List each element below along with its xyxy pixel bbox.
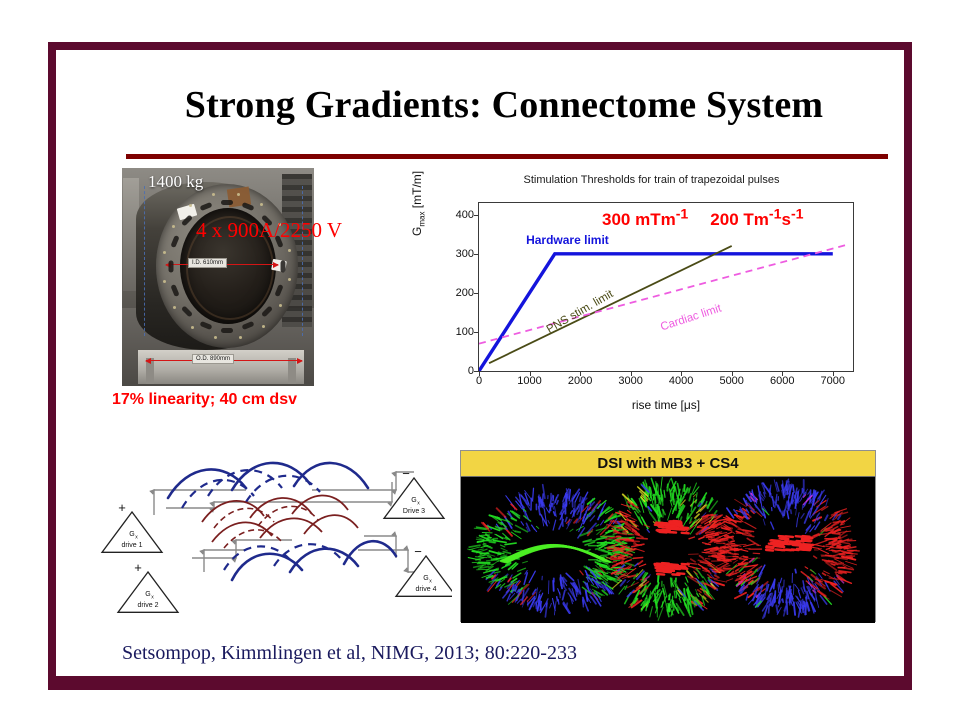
fiber-streamline: [539, 590, 541, 593]
fiber-streamline: [597, 538, 607, 540]
fiber-streamline: [635, 548, 645, 551]
slew-rate-annotation: 200 Tm-1s-1: [710, 210, 803, 229]
fiber-streamline: [625, 530, 628, 531]
coil-slot: [281, 260, 286, 272]
fiber-streamline: [671, 578, 672, 586]
fiber-streamline: [517, 599, 521, 603]
y-tick-mark: [474, 254, 479, 255]
fiber-streamline: [806, 545, 813, 546]
fiber-streamline: [577, 511, 578, 514]
fiber-streamline: [512, 518, 517, 520]
fiber-streamline: [763, 519, 765, 525]
fiber-streamline: [672, 596, 673, 607]
y-tick-label: 0: [468, 365, 474, 377]
page-title: Strong Gradients: Connectome System: [112, 86, 896, 126]
fiber-streamline: [804, 548, 811, 549]
fiber-streamline: [650, 513, 656, 521]
fiber-streamline: [696, 493, 697, 498]
fiber-streamline: [662, 525, 669, 526]
x-tick-label: 0: [476, 375, 482, 387]
fiber-streamline: [815, 522, 820, 529]
fiber-streamline: [805, 538, 812, 539]
fiber-streamline: [825, 515, 828, 520]
fiber-streamline: [478, 549, 483, 550]
fiber-streamline: [813, 548, 819, 549]
fiber-streamline: [657, 571, 664, 572]
fiber-streamline: [680, 529, 687, 530]
fiber-streamline: [784, 510, 785, 515]
fiber-streamline: [781, 538, 788, 539]
fiber-streamline: [563, 591, 565, 600]
fiber-streamline: [554, 512, 555, 516]
fiber-streamline: [539, 507, 540, 515]
fiber-streamline: [553, 520, 556, 530]
fiber-streamline: [795, 570, 796, 573]
fiber-streamline: [586, 591, 588, 601]
circuit-svg: Gxdrive 1+Gxdrive 2+GxDrive 3−Gxdrive 4−: [96, 430, 452, 620]
x-tick-label: 5000: [719, 375, 743, 387]
fiber-streamline: [642, 517, 648, 528]
fiber-streamline: [670, 529, 677, 530]
fiber-streamline: [580, 571, 583, 575]
y-axis-label-sub: max: [417, 212, 426, 227]
fiber-streamline: [596, 525, 599, 527]
fiber-streamline: [778, 550, 785, 551]
fiber-streamline: [791, 510, 792, 513]
fiber-streamline: [682, 564, 689, 565]
fiber-streamline: [767, 546, 774, 547]
fiber-streamline: [659, 507, 660, 518]
fiber-streamline: [700, 556, 703, 558]
fiber-streamline: [476, 557, 487, 558]
fiber-streamline: [555, 497, 556, 502]
title-divider: [126, 154, 888, 159]
fiber-streamline: [557, 501, 558, 504]
chart-series-hardware-limit: [479, 254, 833, 371]
fiber-streamline: [705, 558, 710, 559]
fiber-streamline: [797, 518, 798, 527]
fiber-streamline: [840, 542, 849, 544]
fiber-streamline: [814, 556, 817, 558]
photo-dimension-guide-left: [144, 186, 145, 336]
fiber-streamline: [656, 568, 663, 569]
fiber-streamline: [494, 572, 500, 573]
fiber-streamline: [760, 492, 761, 496]
fiber-streamline: [731, 541, 734, 542]
fiber-streamline: [697, 594, 699, 597]
fiber-streamline: [727, 579, 733, 581]
fiber-streamline: [638, 561, 642, 564]
fiber-streamline: [695, 514, 699, 518]
y-tick-mark: [474, 215, 479, 216]
fiber-streamline: [557, 597, 558, 601]
fiber-streamline: [675, 585, 676, 593]
fiber-streamline: [660, 532, 667, 533]
fiber-streamline: [817, 513, 819, 516]
chart-title: Stimulation Thresholds for train of trap…: [424, 174, 879, 186]
fiber-streamline: [738, 544, 747, 545]
coil-loop-red-upper-3: [292, 495, 348, 514]
chart-x-axis-label: rise time [μs]: [478, 398, 854, 412]
coil-loop-red-lower-1: [212, 522, 272, 542]
y-tick-label: 100: [456, 326, 474, 338]
fiber-streamline: [570, 529, 573, 531]
fiber-streamline: [769, 490, 770, 496]
fiber-streamline: [674, 499, 675, 502]
y-tick-mark: [474, 332, 479, 333]
fiber-streamline: [662, 563, 669, 564]
fiber-streamline: [787, 511, 789, 519]
fiber-streamline: [501, 545, 505, 547]
coil-slot: [221, 328, 233, 333]
chart-series-pns-stim-limit: [489, 246, 732, 363]
fiber-streamline: [714, 580, 727, 583]
fiber-streamline: [782, 544, 789, 545]
fiber-streamline: [647, 583, 650, 587]
fiber-streamline: [523, 561, 528, 563]
amplifier-label-symbol-3: G: [411, 497, 416, 504]
fiber-streamline: [673, 521, 680, 522]
fiber-streamline: [550, 603, 552, 608]
y-axis-label-units: [mT/m]: [410, 171, 424, 212]
y-axis-label-main: G: [410, 227, 424, 236]
fiber-streamline: [771, 543, 778, 544]
fiber-streamline: [619, 586, 625, 594]
fiber-streamline: [689, 537, 694, 539]
y-tick-mark: [474, 293, 479, 294]
fiber-streamline: [846, 556, 852, 557]
slew-rate-exponent-1: -1: [769, 206, 782, 222]
x-tick-label: 7000: [821, 375, 845, 387]
fiber-streamline: [515, 531, 520, 532]
fiber-streamline: [558, 600, 559, 605]
amplifier-polarity-3: −: [402, 466, 410, 481]
gradient-strength-exponent: -1: [676, 206, 689, 222]
amplifier-rating-caption: 4 x 900A/2250 V: [196, 218, 342, 243]
fiber-streamline: [533, 488, 534, 500]
fiber-streamline: [837, 545, 840, 546]
fiber-streamline: [673, 601, 674, 610]
fiber-streamline: [780, 542, 787, 543]
slew-rate-unit-s: s: [781, 210, 790, 229]
fiber-streamline: [780, 578, 782, 583]
fiber-streamline: [841, 526, 851, 528]
fiber-streamline: [518, 568, 526, 571]
gradient-strength-annotation: 300 mTm-1: [602, 210, 688, 229]
slide-root: Strong Gradients: Connectome System: [0, 0, 960, 720]
fiber-streamline: [669, 594, 670, 600]
fiber-streamline: [829, 578, 838, 580]
coil-bolt: [173, 306, 176, 309]
fiber-streamline: [562, 513, 563, 526]
fiber-streamline: [832, 550, 835, 551]
fiber-streamline: [656, 523, 663, 524]
photo-image: I.D. 610mm O.D. 890mm 1400 kg: [122, 168, 314, 386]
coil-bolt: [163, 280, 166, 283]
fiber-streamline: [819, 574, 823, 579]
fiber-streamline: [553, 581, 554, 591]
fiber-streamline: [801, 514, 804, 519]
fiber-streamline: [733, 560, 737, 563]
fiber-streamline: [637, 538, 647, 539]
fiber-streamline: [777, 505, 783, 516]
fiber-streamline: [684, 485, 685, 491]
fiber-streamline: [501, 548, 507, 551]
fiber-streamline: [831, 548, 841, 549]
fiber-streamline: [669, 567, 676, 568]
fiber-streamline: [497, 508, 506, 517]
fiber-streamline: [801, 588, 804, 594]
x-tick-label: 1000: [517, 375, 541, 387]
brain-view-coronal: [716, 479, 860, 618]
fiber-streamline: [604, 560, 610, 562]
fiber-streamline: [688, 600, 689, 610]
fiber-streamline: [675, 523, 682, 524]
fiber-streamline: [835, 550, 840, 551]
fiber-streamline: [601, 520, 604, 525]
coil-loop-blue-lower-1: [232, 554, 302, 580]
fiber-streamline: [651, 479, 656, 492]
coil-bolt: [191, 326, 194, 329]
fiber-streamline: [662, 602, 663, 607]
fiber-streamline: [583, 600, 584, 604]
coil-loop-red-lower-3: [304, 515, 358, 534]
amplifier-polarity-2: +: [134, 560, 142, 575]
title-block: Strong Gradients: Connectome System: [112, 86, 896, 126]
fiber-streamline: [663, 588, 665, 594]
fiber-streamline: [500, 587, 502, 590]
x-tick-label: 6000: [770, 375, 794, 387]
y-tick-label: 400: [456, 209, 474, 221]
fiber-streamline: [698, 590, 701, 593]
fiber-streamline: [488, 557, 492, 558]
fiber-streamline: [687, 514, 688, 519]
fiber-streamline: [771, 522, 774, 529]
amplifier-label-name-1: drive 1: [121, 542, 142, 549]
fiber-streamline: [675, 487, 677, 496]
fiber-streamline: [823, 573, 826, 575]
fiber-streamline: [698, 526, 701, 527]
fiber-streamline: [778, 585, 779, 593]
fiber-streamline: [844, 558, 849, 559]
series-label-hardware-limit: Hardware limit: [526, 233, 609, 247]
fiber-streamline: [766, 550, 773, 551]
fiber-streamline: [503, 590, 509, 598]
fiber-streamline: [533, 603, 535, 607]
fiber-streamline: [824, 571, 830, 574]
fiber-streamline: [578, 528, 585, 538]
fiber-streamline: [469, 545, 480, 547]
fiber-streamline: [786, 536, 793, 537]
fiber-streamline: [507, 594, 510, 601]
fiber-streamline: [808, 492, 810, 495]
fiber-streamline: [797, 549, 804, 550]
fiber-streamline: [769, 604, 770, 613]
amplifier-polarity-4: −: [414, 544, 422, 559]
fiber-streamline: [532, 525, 535, 530]
fiber-streamline: [529, 571, 535, 582]
fiber-streamline: [583, 502, 585, 510]
inner-diameter-label: I.D. 610mm: [188, 258, 227, 268]
fiber-streamline: [691, 559, 695, 562]
fiber-streamline: [505, 543, 516, 545]
fiber-streamline: [685, 583, 687, 586]
amplifier-label-symbol-4: G: [423, 575, 428, 582]
fiber-streamline: [601, 555, 608, 556]
fiber-streamline: [655, 594, 657, 608]
fiber-streamline: [628, 590, 634, 596]
fiber-streamline: [826, 499, 828, 507]
fiber-streamline: [785, 491, 786, 498]
fiber-streamline: [805, 567, 808, 569]
fiber-streamline: [847, 550, 859, 551]
fiber-streamline: [627, 510, 631, 513]
fiber-streamline: [826, 548, 829, 549]
stimulation-threshold-chart: Stimulation Thresholds for train of trap…: [424, 174, 879, 422]
circuit-wire-4: [308, 482, 392, 502]
amplifier-label-symbol-2: G: [145, 591, 150, 598]
coil-loop-blue-lower-dashed-2: [274, 544, 342, 566]
fiber-streamline: [717, 556, 724, 557]
fiber-streamline: [625, 563, 634, 566]
fiber-streamline: [832, 533, 839, 534]
fiber-streamline: [608, 548, 619, 549]
photo-stand-leg-right: [288, 358, 296, 384]
dsi-svg: [461, 477, 875, 623]
fiber-streamline: [655, 525, 662, 526]
fiber-streamline: [622, 550, 626, 551]
fiber-streamline: [625, 560, 631, 562]
fiber-streamline: [835, 509, 847, 513]
fiber-streamline: [801, 572, 809, 578]
gradient-coil-photo: I.D. 610mm O.D. 890mm 1400 kg: [122, 168, 314, 386]
coil-loop-red-lower-dashed-1: [224, 530, 282, 548]
fiber-streamline: [591, 585, 597, 588]
fiber-streamline: [788, 497, 789, 510]
linearity-caption: 17% linearity; 40 cm dsv: [112, 391, 332, 409]
fiber-streamline: [640, 514, 642, 517]
fiber-streamline: [625, 586, 627, 589]
fiber-streamline: [676, 590, 677, 598]
amplifier-label-name-2: drive 2: [137, 602, 158, 609]
fiber-streamline: [672, 583, 673, 586]
fiber-streamline: [489, 542, 494, 543]
dsi-panel-header: DSI with MB3 + CS4: [461, 451, 875, 477]
fiber-streamline: [699, 537, 704, 539]
fiber-streamline: [776, 605, 777, 612]
circuit-wire-8: [364, 536, 396, 558]
fiber-streamline: [686, 577, 688, 582]
fiber-streamline: [793, 543, 800, 544]
fiber-streamline: [826, 538, 839, 539]
fiber-streamline: [650, 607, 653, 617]
slew-rate-value: 200 Tm: [710, 210, 769, 229]
fiber-streamline: [614, 560, 621, 561]
fiber-streamline: [682, 533, 689, 534]
fiber-streamline: [738, 576, 742, 577]
fiber-streamline: [795, 585, 799, 591]
x-tick-label: 3000: [618, 375, 642, 387]
fiber-streamline: [513, 573, 521, 578]
fiber-streamline: [548, 520, 549, 523]
fiber-streamline: [677, 573, 684, 574]
fiber-streamline: [770, 540, 777, 541]
fiber-streamline: [490, 570, 498, 571]
fiber-streamline: [544, 509, 545, 514]
coil-loop-red-lower-2: [260, 518, 322, 538]
chart-y-axis-label: Gmax [mT/m]: [410, 171, 426, 236]
slew-rate-exponent-2: -1: [791, 206, 804, 222]
x-tick-label: 2000: [568, 375, 592, 387]
fiber-streamline: [708, 565, 714, 567]
fiber-streamline: [689, 490, 690, 493]
fiber-streamline: [566, 518, 567, 522]
coil-slot: [221, 200, 233, 205]
fiber-streamline: [846, 561, 857, 565]
fiber-streamline: [561, 575, 562, 586]
amplifier-label-symbol-1: G: [129, 531, 134, 538]
brain-view-axial: [602, 477, 734, 620]
fiber-streamline: [679, 599, 681, 603]
amplifier-label-name-4: drive 4: [415, 586, 436, 593]
fiber-streamline: [558, 589, 560, 595]
fiber-streamline: [585, 542, 594, 545]
photo-dimension-guide-right: [302, 186, 303, 336]
fiber-streamline: [811, 570, 816, 575]
fiber-streamline: [553, 599, 556, 611]
gradient-amplifier-circuit-diagram: Gxdrive 1+Gxdrive 2+GxDrive 3−Gxdrive 4−: [96, 430, 452, 620]
fiber-streamline: [740, 556, 744, 558]
dsi-tractography-image: [461, 477, 875, 623]
fiber-streamline: [745, 522, 756, 528]
fiber-streamline: [508, 578, 511, 581]
fiber-streamline: [783, 599, 784, 602]
fiber-streamline: [712, 515, 716, 516]
fiber-streamline: [602, 591, 607, 595]
fiber-streamline: [774, 579, 775, 588]
fiber-streamline: [571, 511, 573, 514]
coil-slot: [169, 260, 174, 272]
fiber-streamline: [657, 583, 659, 589]
citation-text: Setsompop, Kimmlingen et al, NIMG, 2013;…: [122, 642, 822, 665]
fiber-streamline: [657, 566, 664, 567]
outer-diameter-label: O.D. 890mm: [192, 354, 234, 364]
fiber-streamline: [796, 536, 803, 537]
fiber-streamline: [580, 497, 581, 501]
fiber-streamline: [663, 530, 670, 531]
fiber-streamline: [661, 477, 663, 489]
slide-frame: Strong Gradients: Connectome System: [48, 42, 912, 690]
fiber-streamline: [831, 564, 834, 566]
fiber-streamline: [798, 513, 799, 518]
fiber-streamline: [843, 565, 846, 567]
fiber-streamline: [708, 498, 712, 508]
weight-label: 1400 kg: [148, 172, 203, 192]
fiber-streamline: [667, 565, 674, 566]
fiber-streamline: [668, 508, 672, 520]
fiber-streamline: [744, 557, 748, 558]
chart-spec-annotations: 300 mTm-1200 Tm-1s-1: [602, 206, 804, 230]
brain-view-sagittal: [468, 485, 635, 617]
fiber-streamline: [794, 602, 795, 615]
fiber-streamline: [611, 559, 624, 560]
fiber-streamline: [647, 530, 649, 533]
fiber-streamline: [634, 558, 643, 559]
amplifier-polarity-1: +: [118, 500, 126, 515]
fiber-streamline: [793, 545, 800, 546]
fiber-streamline: [627, 581, 629, 583]
fiber-streamline: [566, 573, 573, 580]
